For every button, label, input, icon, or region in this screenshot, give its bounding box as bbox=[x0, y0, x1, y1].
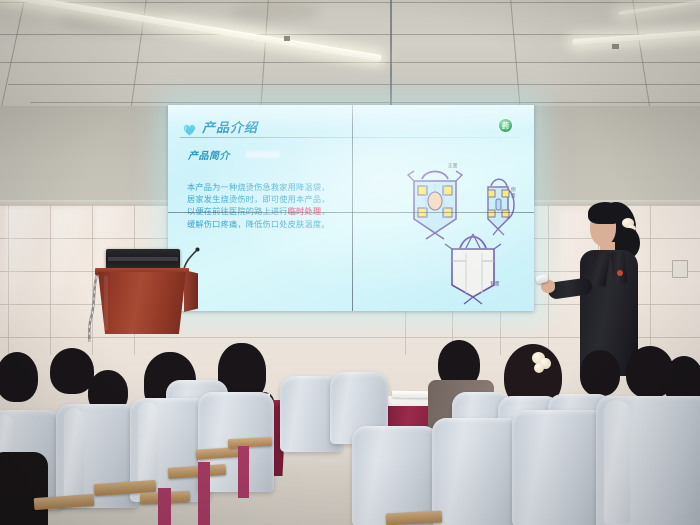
body-line-2: 居家发生烧烫伤时，即可使用本产品， bbox=[187, 193, 367, 205]
video-wall-seam-horizontal bbox=[168, 212, 534, 213]
screen-top-sheen bbox=[168, 105, 534, 131]
audience-head bbox=[0, 352, 38, 402]
slide-subtitle: 产品简介 bbox=[188, 147, 230, 162]
subtitle-highlight-bar bbox=[246, 151, 280, 158]
lectern[interactable] bbox=[98, 272, 186, 334]
title-divider bbox=[180, 137, 520, 138]
hair-clip bbox=[534, 363, 544, 373]
fold-out-tablet-arm[interactable] bbox=[386, 511, 443, 525]
diagram-label-side: 侧面 bbox=[511, 187, 520, 199]
tablet-arm-post bbox=[158, 488, 171, 525]
auditorium-seat[interactable] bbox=[512, 410, 608, 525]
wall-outlet[interactable] bbox=[672, 260, 688, 278]
podium-right-panel bbox=[184, 270, 198, 312]
lecture-hall-photo: 产品介绍 产品简介 药 本产品为一种烧烫伤急救家用降温袋， 居家发生烧烫伤时，即… bbox=[0, 0, 700, 525]
body-line-1: 本产品为一种烧烫伤急救家用降温袋， bbox=[187, 181, 367, 193]
ceiling bbox=[0, 0, 700, 112]
product-back-view: 背面 bbox=[440, 229, 506, 309]
body-line-4: 缓解伤口疼痛，降低伤口处皮肤温度。 bbox=[187, 218, 367, 230]
seat-edge-highlight bbox=[64, 408, 84, 504]
presenter bbox=[540, 196, 650, 376]
diagram-label-front: 正面 bbox=[448, 163, 458, 169]
diagram-label-back: 背面 bbox=[490, 281, 500, 287]
video-wall-seam-vertical bbox=[352, 105, 353, 311]
seat-edge-highlight bbox=[604, 400, 630, 524]
lapel-pin bbox=[617, 270, 623, 276]
presenter-bangs bbox=[588, 202, 622, 224]
auditorium-seat[interactable] bbox=[432, 418, 524, 525]
audience-head bbox=[580, 350, 620, 396]
tablet-arm-post bbox=[198, 462, 210, 525]
audience-torso bbox=[0, 452, 48, 525]
projection-video-wall[interactable]: 产品介绍 产品简介 药 本产品为一种烧烫伤急救家用降温袋， 居家发生烧烫伤时，即… bbox=[168, 105, 534, 311]
podium-cable bbox=[86, 268, 99, 340]
auditorium-seat[interactable] bbox=[352, 426, 438, 525]
slide-body-text: 本产品为一种烧烫伤急救家用降温袋， 居家发生烧烫伤时，即可使用本产品， 以便在前… bbox=[187, 181, 367, 230]
tablet-arm-post bbox=[238, 446, 249, 498]
